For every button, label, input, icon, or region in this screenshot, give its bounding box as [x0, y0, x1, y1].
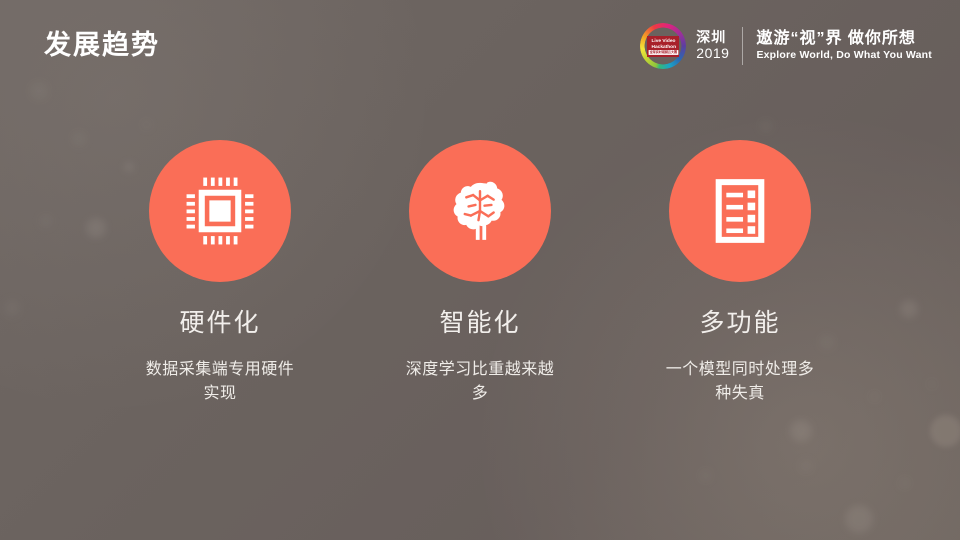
slide-header: 发展趋势 Live Video Hackathon 全球实时视频云大赛 深圳 2…: [0, 0, 960, 92]
bokeh-dot: [900, 478, 910, 488]
bokeh-dot: [900, 300, 918, 318]
logo-city-name: 深圳: [696, 30, 729, 46]
bokeh-dot: [845, 505, 873, 533]
feature-item: 硬件化 数据采集端专用硬件实现: [130, 140, 310, 406]
logo-year: 2019: [696, 46, 729, 62]
bokeh-dot: [800, 460, 812, 472]
bokeh-dot: [72, 132, 86, 146]
bokeh-dot: [40, 215, 52, 227]
feature-title: 多功能: [699, 308, 780, 338]
bokeh-dot: [760, 120, 772, 132]
feature-title: 硬件化: [179, 308, 260, 338]
feature-list: 硬件化 数据采集端专用硬件实现: [130, 140, 830, 406]
document-list-icon: [702, 173, 778, 249]
bokeh-dot: [930, 415, 960, 447]
logo-slogan: 遨游“视”界 做你所想 Explore World, Do What You W…: [756, 29, 932, 63]
logo-divider: [742, 27, 743, 65]
feature-item: 智能化 深度学习比重越来越多: [390, 140, 570, 406]
bokeh-dot: [928, 380, 936, 388]
bokeh-dot: [790, 420, 812, 442]
bokeh-dot: [870, 392, 879, 401]
logo-slogan-chinese: 遨游“视”界 做你所想: [756, 29, 932, 49]
bokeh-dot: [86, 218, 106, 238]
event-logo-lockup: Live Video Hackathon 全球实时视频云大赛 深圳 2019 遨…: [640, 22, 932, 70]
feature-icon-circle: [409, 140, 551, 282]
bokeh-dot: [4, 300, 20, 316]
slide-canvas: 发展趋势 Live Video Hackathon 全球实时视频云大赛 深圳 2…: [0, 0, 960, 540]
cpu-chip-icon: [182, 173, 258, 249]
feature-description: 数据采集端专用硬件实现: [140, 358, 300, 406]
bokeh-dot: [142, 120, 151, 129]
feature-item: 多功能 一个模型同时处理多种失真: [650, 140, 830, 406]
feature-description: 深度学习比重越来越多: [400, 358, 560, 406]
feature-icon-circle: [669, 140, 811, 282]
page-title: 发展趋势: [44, 32, 160, 59]
bokeh-dot: [700, 470, 711, 481]
live-video-hackathon-ring-logo-icon: Live Video Hackathon 全球实时视频云大赛: [640, 23, 686, 69]
logo-city-year: 深圳 2019: [696, 30, 729, 61]
feature-description: 一个模型同时处理多种失真: [660, 358, 820, 406]
feature-title: 智能化: [439, 308, 520, 338]
logo-slogan-english: Explore World, Do What You Want: [756, 49, 932, 63]
feature-icon-circle: [149, 140, 291, 282]
logo-badge-line-3: 全球实时视频云大赛: [649, 50, 678, 54]
brain-icon: [442, 173, 518, 249]
logo-badge: Live Video Hackathon 全球实时视频云大赛: [647, 36, 679, 57]
